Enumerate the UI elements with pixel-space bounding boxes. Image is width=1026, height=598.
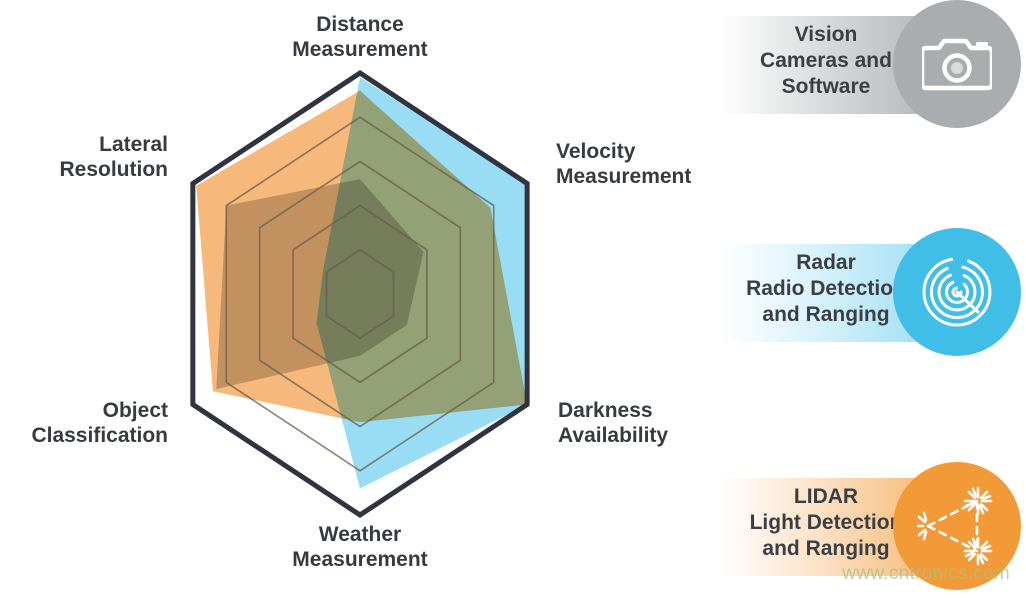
radar-chart: Distance Measurement Velocity Measuremen… bbox=[0, 0, 720, 593]
axis-label-object-classification: Object Classification bbox=[0, 398, 168, 448]
legend-item-vision[interactable]: Vision Cameras and Software bbox=[720, 0, 1026, 130]
legend-item-radar[interactable]: Radar Radio Detection and Ranging bbox=[720, 228, 1026, 358]
axis-label-lateral-resolution: Lateral Resolution bbox=[0, 132, 168, 182]
radar-chart-svg bbox=[0, 0, 720, 593]
camera-icon bbox=[922, 35, 992, 93]
legend-icon-circle-vision bbox=[893, 0, 1021, 128]
radar-waves-icon bbox=[917, 252, 997, 332]
sensor-legend: Vision Cameras and Software Radar Radio … bbox=[720, 0, 1026, 593]
legend-icon-circle-radar bbox=[893, 228, 1021, 356]
axis-label-weather-measurement: Weather Measurement bbox=[215, 522, 505, 572]
axis-label-distance-measurement: Distance Measurement bbox=[215, 12, 505, 62]
site-watermark: www.cntronics.com bbox=[842, 563, 1010, 585]
radar-series-group bbox=[196, 77, 527, 488]
laser-beam-icon bbox=[917, 486, 997, 566]
